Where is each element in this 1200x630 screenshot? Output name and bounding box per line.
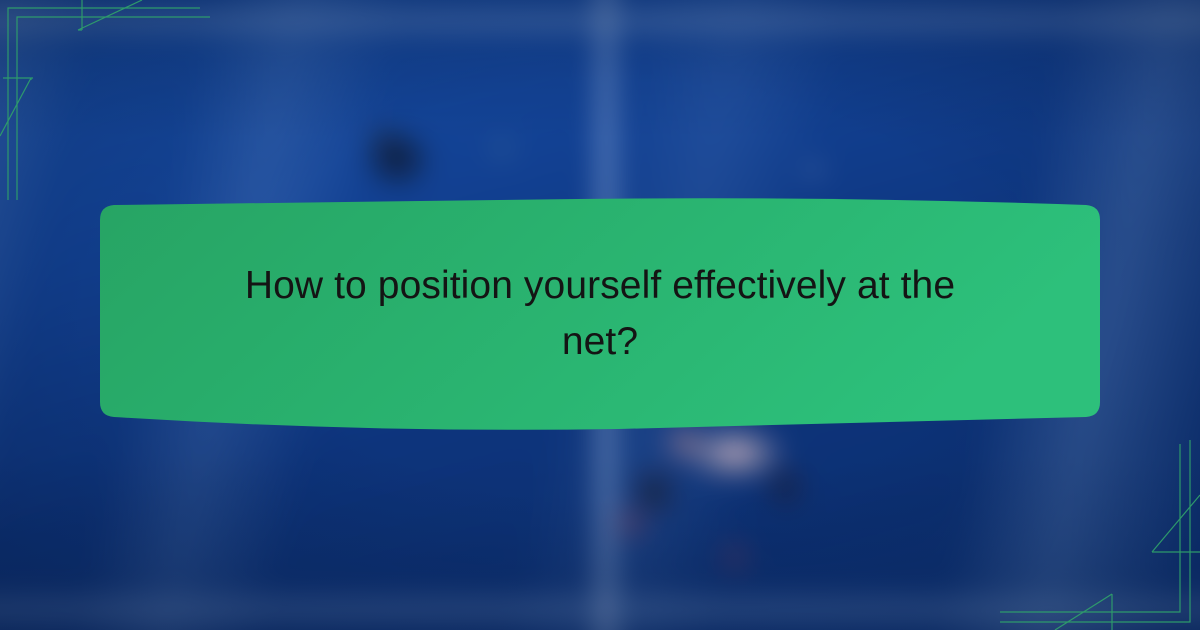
title-banner: How to position yourself effectively at …	[98, 190, 1102, 438]
banner-title: How to position yourself effectively at …	[235, 258, 965, 370]
banner-text-container: How to position yourself effectively at …	[98, 190, 1102, 438]
share-card-canvas: How to position yourself effectively at …	[0, 0, 1200, 630]
